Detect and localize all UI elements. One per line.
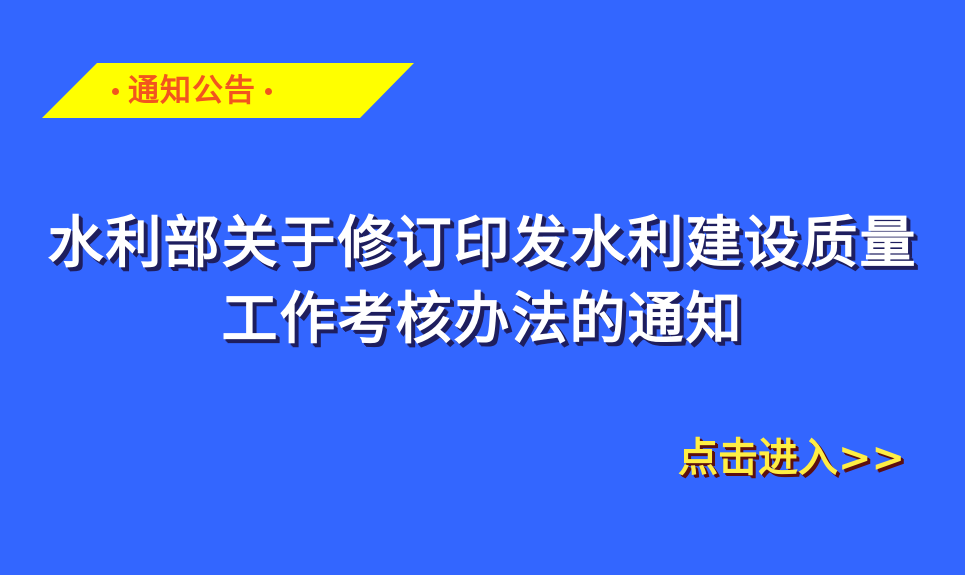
- enter-link[interactable]: 点击进入>>: [0, 433, 905, 483]
- category-tag[interactable]: 通知公告: [0, 63, 420, 119]
- category-tag-label-group: 通知公告: [112, 63, 272, 119]
- announcement-title: 水利部关于修订印发水利建设质量 工作考核办法的通知: [0, 205, 965, 357]
- announcement-title-line-1: 水利部关于修订印发水利建设质量: [0, 205, 965, 281]
- announcement-banner: 通知公告 水利部关于修订印发水利建设质量 工作考核办法的通知 点击进入>>: [0, 0, 965, 575]
- announcement-title-line-2: 工作考核办法的通知: [0, 281, 965, 357]
- category-tag-text: 通知公告: [128, 76, 256, 107]
- enter-link-label: 点击进入: [678, 434, 838, 481]
- double-chevron-right-icon: >>: [838, 435, 905, 481]
- bullet-dot-left-icon: [112, 88, 119, 95]
- bullet-dot-right-icon: [265, 88, 272, 95]
